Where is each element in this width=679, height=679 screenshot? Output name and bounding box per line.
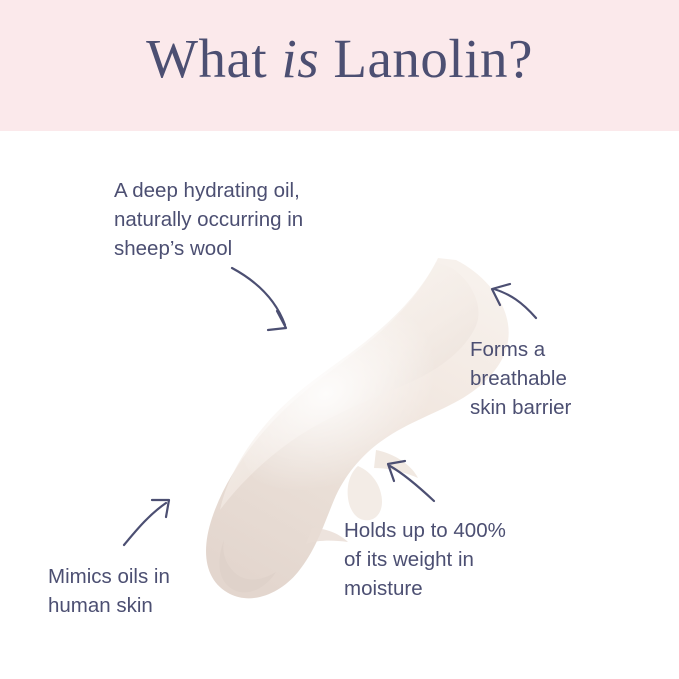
page-title-part-1: What: [146, 28, 281, 89]
swatch-wisp-2: [306, 528, 348, 544]
infographic-canvas: What is Lanolin?: [0, 0, 679, 679]
callout-skin-barrier: Forms a breathable skin barrier: [470, 335, 645, 422]
callout-deep-hydrating-oil: A deep hydrating oil, naturally occurrin…: [114, 176, 379, 263]
callout-moisture-capacity: Holds up to 400% of its weight in moistu…: [344, 516, 584, 603]
page-title-emphasis: is: [281, 28, 319, 89]
page-title: What is Lanolin?: [0, 26, 679, 92]
page-title-part-2: Lanolin?: [319, 28, 533, 89]
callout-mimics-skin-oils: Mimics oils in human skin: [48, 562, 263, 620]
